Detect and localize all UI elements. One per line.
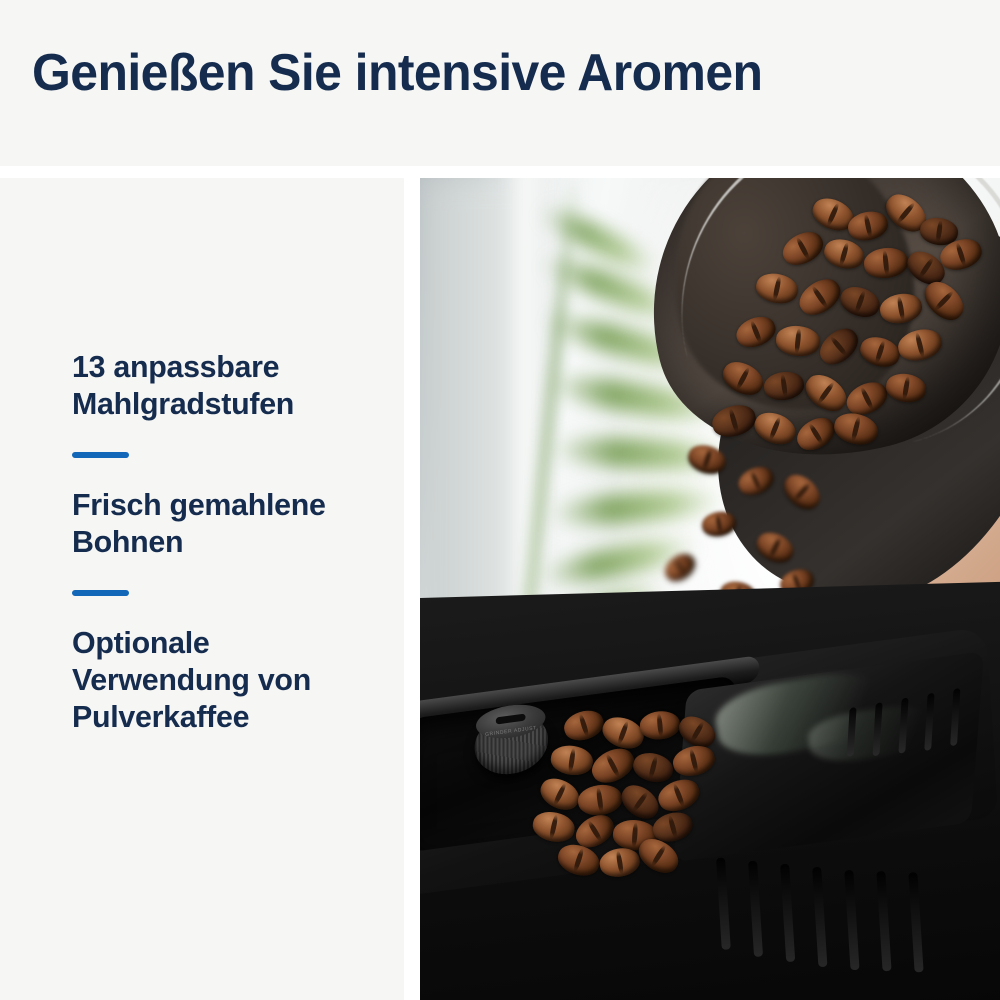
front-vent-slot-6 [876, 871, 891, 971]
header-band: Genießen Sie intensive Aromen [0, 0, 1000, 166]
front-vent-slot-1 [716, 857, 731, 949]
product-photo: GRINDER ADJUST [420, 178, 1000, 1000]
front-vent-slot-2 [748, 861, 763, 957]
front-vent-slot-4 [812, 867, 827, 967]
feature-list-panel: 13 anpassbare Mahlgradstufen Frisch gema… [0, 178, 404, 1000]
product-feature-panel: Genießen Sie intensive Aromen 13 anpassb… [0, 0, 1000, 1000]
front-vent-slot-5 [844, 870, 859, 970]
feature-item-2: Frisch gemahlene Bohnen [72, 486, 386, 560]
horizontal-divider [0, 166, 1000, 178]
page-title: Genießen Sie intensive Aromen [32, 44, 762, 102]
coffee-machine-body: GRINDER ADJUST [420, 581, 1000, 1000]
front-vent-slot-3 [780, 864, 795, 962]
feature-divider-1 [72, 452, 129, 458]
vertical-divider [404, 166, 420, 1000]
feature-item-1: 13 anpassbare Mahlgradstufen [72, 348, 386, 422]
feature-divider-2 [72, 590, 129, 596]
feature-list: 13 anpassbare Mahlgradstufen Frisch gema… [72, 348, 392, 735]
feature-item-3: Optionale Verwendung von Pulverkaffee [72, 624, 386, 735]
front-vent-slot-7 [908, 872, 923, 972]
